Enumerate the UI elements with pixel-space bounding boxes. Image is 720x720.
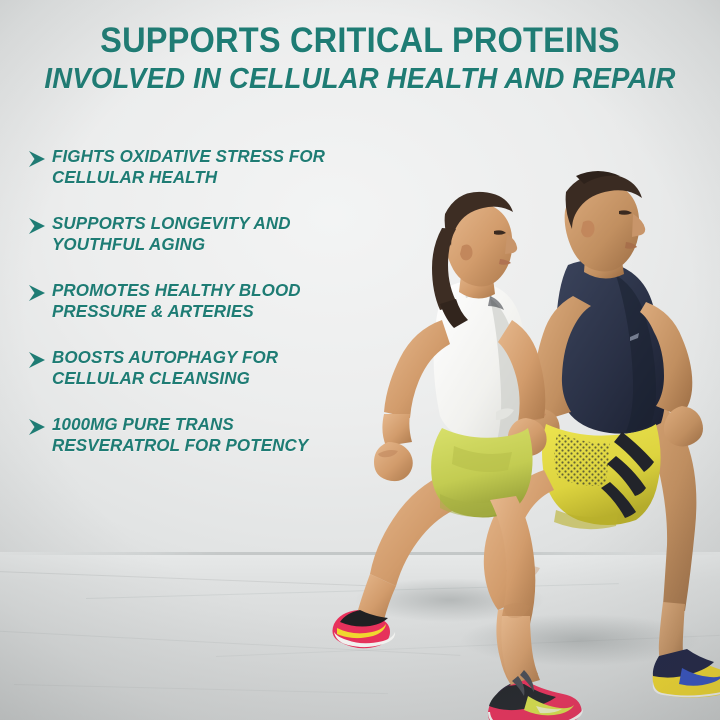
- female-back-fist: [374, 442, 413, 481]
- benefit-text: 1000MG PURE TRANS RESVERATROL FOR POTENC…: [52, 414, 308, 456]
- promo-poster: SUPPORTS CRITICAL PROTEINS INVOLVED IN C…: [0, 0, 720, 720]
- headline-primary: SUPPORTS CRITICAL PROTEINS: [25, 22, 695, 60]
- benefit-text: PROMOTES HEALTHY BLOOD PRESSURE & ARTERI…: [52, 280, 301, 322]
- runners-photo: [330, 170, 720, 720]
- male-rear-shoe: [653, 649, 720, 698]
- male-back-fist: [664, 406, 703, 447]
- chevron-right-icon: [26, 349, 52, 371]
- chevron-right-icon: [26, 215, 52, 237]
- headline-block: SUPPORTS CRITICAL PROTEINS INVOLVED IN C…: [0, 22, 720, 96]
- chevron-right-icon: [26, 416, 52, 438]
- chevron-right-icon: [26, 282, 52, 304]
- headline-secondary: INVOLVED IN CELLULAR HEALTH AND REPAIR: [18, 62, 702, 96]
- female-back-forearm: [382, 414, 412, 446]
- female-ear: [460, 245, 473, 261]
- benefit-text: FIGHTS OXIDATIVE STRESS FOR CELLULAR HEA…: [52, 146, 325, 188]
- benefit-text: SUPPORTS LONGEVITY AND YOUTHFUL AGING: [52, 213, 291, 255]
- benefit-text: BOOSTS AUTOPHAGY FOR CELLULAR CLEANSING: [52, 347, 278, 389]
- chevron-right-icon: [26, 148, 52, 170]
